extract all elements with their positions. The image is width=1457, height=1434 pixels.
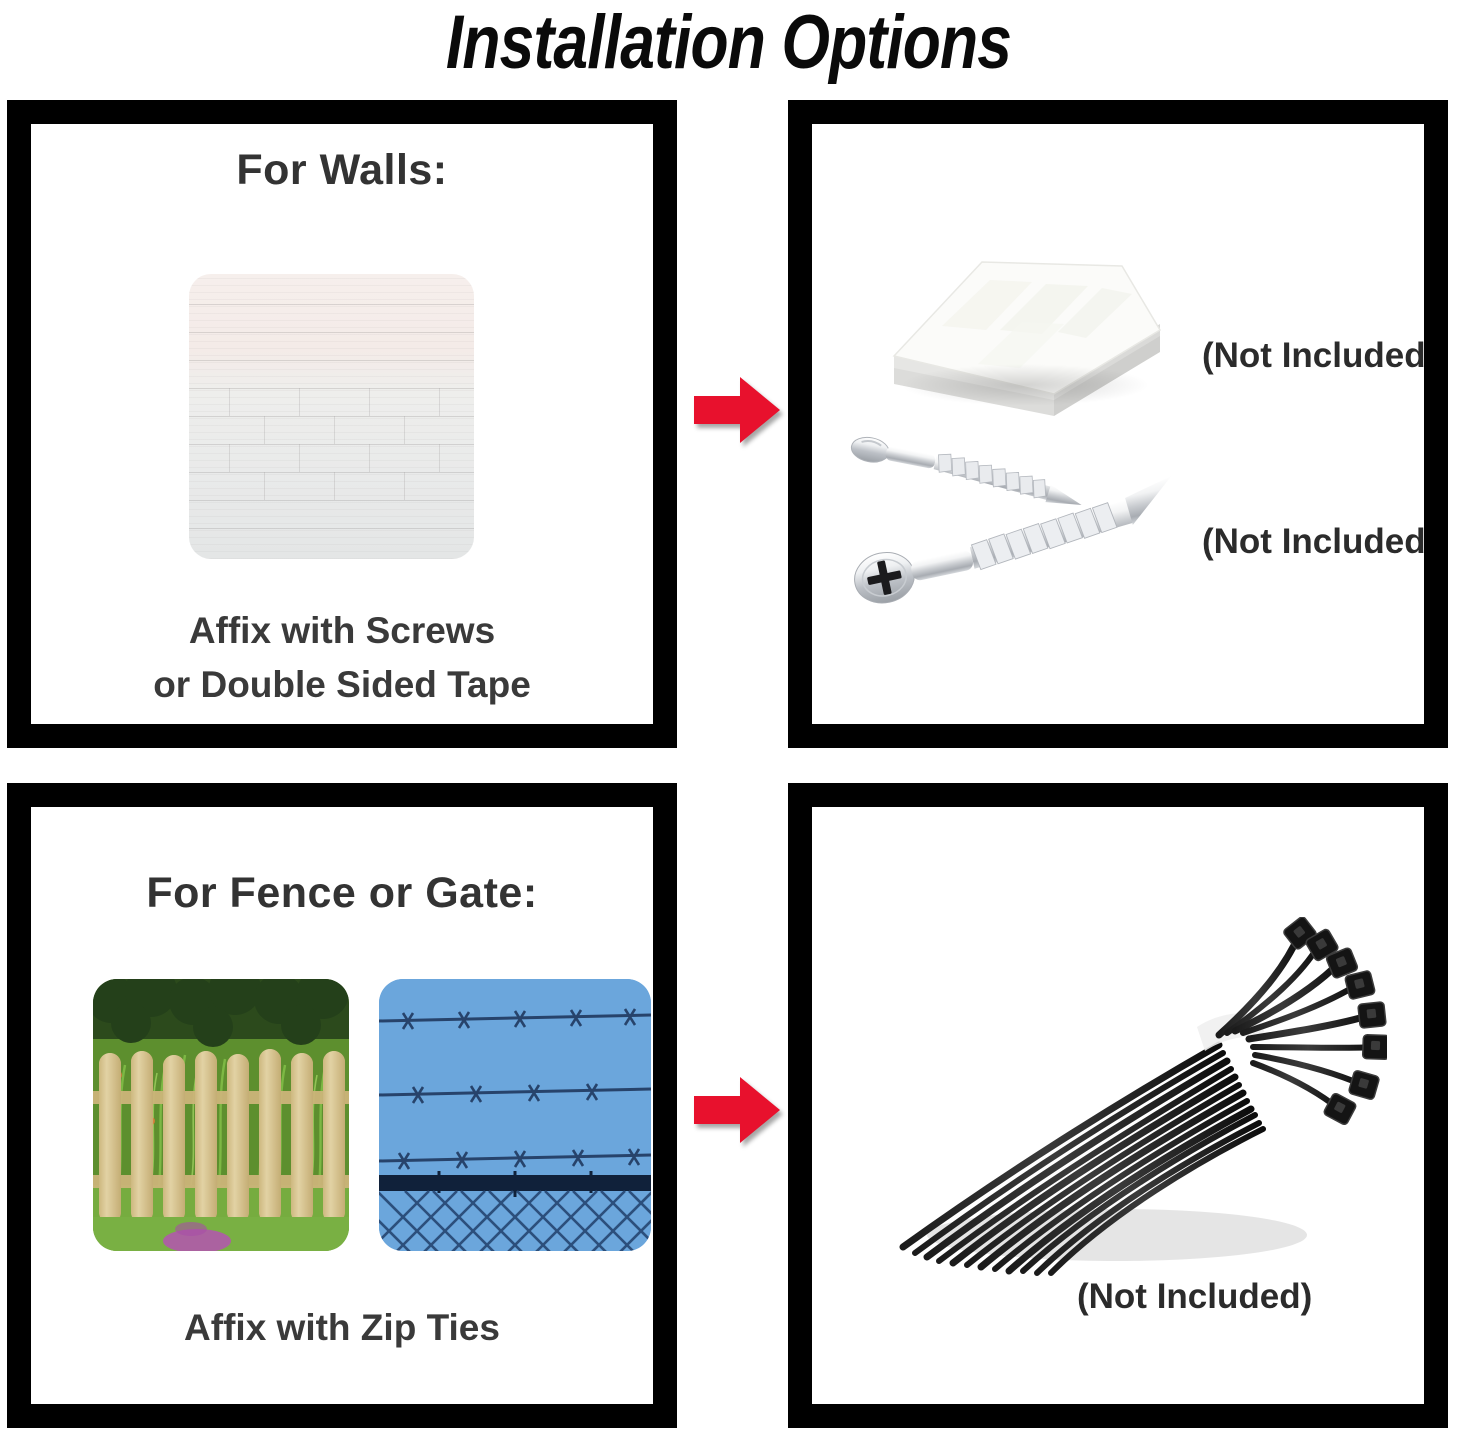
wall-brick-line — [189, 304, 474, 305]
wall-mortar-seam — [439, 388, 440, 416]
wall-mortar-seam — [334, 472, 335, 500]
red-right-arrow-bottom — [692, 1074, 782, 1146]
wall-mortar-seam — [439, 444, 440, 472]
panel-fence-hardware: (Not Included) — [788, 783, 1448, 1428]
screw-upper — [848, 434, 1086, 509]
panel-fence-hardware-content: (Not Included) — [812, 807, 1424, 1404]
wall-brick-line — [189, 472, 474, 473]
wall-brick-line — [189, 388, 474, 389]
wall-mortar-seam — [299, 444, 300, 472]
black-zip-ties-bundle — [867, 917, 1387, 1297]
for-fence-heading: For Fence or Gate: — [31, 869, 653, 918]
panel-wall-hardware: (Not Included) — [788, 100, 1448, 748]
for-walls-caption-line2: or Double Sided Tape — [31, 658, 653, 712]
wall-mortar-seam — [229, 388, 230, 416]
white-brick-wall-photo — [189, 274, 474, 559]
wall-mortar-seam — [404, 416, 405, 444]
for-walls-caption-line1: Affix with Screws — [31, 604, 653, 658]
panel-for-walls: For Walls: — [7, 100, 677, 748]
wall-brick-line — [189, 444, 474, 445]
wall-mortar-seam — [404, 472, 405, 500]
page-title: Installation Options — [131, 0, 1326, 88]
wall-mortar-seam — [334, 416, 335, 444]
wall-mortar-seam — [229, 444, 230, 472]
wall-brick-line — [189, 416, 474, 417]
wall-brick-line — [189, 360, 474, 361]
wall-mortar-seam — [369, 388, 370, 416]
red-right-arrow-top — [692, 374, 782, 446]
wall-brick-line — [189, 500, 474, 501]
wall-brick-line — [189, 528, 474, 529]
wooden-picket-fence-photo — [93, 979, 349, 1251]
wall-mortar-seam — [264, 416, 265, 444]
wall-mortar-seam — [264, 472, 265, 500]
double-sided-tape-stack — [882, 244, 1172, 424]
panel-for-fence-content: For Fence or Gate: — [31, 807, 653, 1404]
for-walls-heading: For Walls: — [31, 146, 653, 195]
tape-shadow — [900, 364, 1150, 406]
wall-mortar-seam — [369, 444, 370, 472]
zip-ties-not-included-label: (Not Included) — [1077, 1277, 1312, 1317]
screws-not-included-label: (Not Included) — [1202, 522, 1424, 562]
wall-brick-line — [189, 332, 474, 333]
for-fence-caption: Affix with Zip Ties — [31, 1301, 653, 1355]
screw-lower — [847, 476, 1185, 609]
panel-for-walls-content: For Walls: — [31, 124, 653, 724]
for-walls-caption: Affix with Screws or Double Sided Tape — [31, 604, 653, 711]
panel-for-fence-or-gate: For Fence or Gate: — [7, 783, 677, 1428]
wood-screws — [842, 424, 1202, 614]
wall-mortar-seam — [299, 388, 300, 416]
tape-not-included-label: (Not Included) — [1202, 336, 1424, 376]
chain-link-barbed-wire-fence-photo — [379, 979, 651, 1251]
panel-wall-hardware-content: (Not Included) — [812, 124, 1424, 724]
